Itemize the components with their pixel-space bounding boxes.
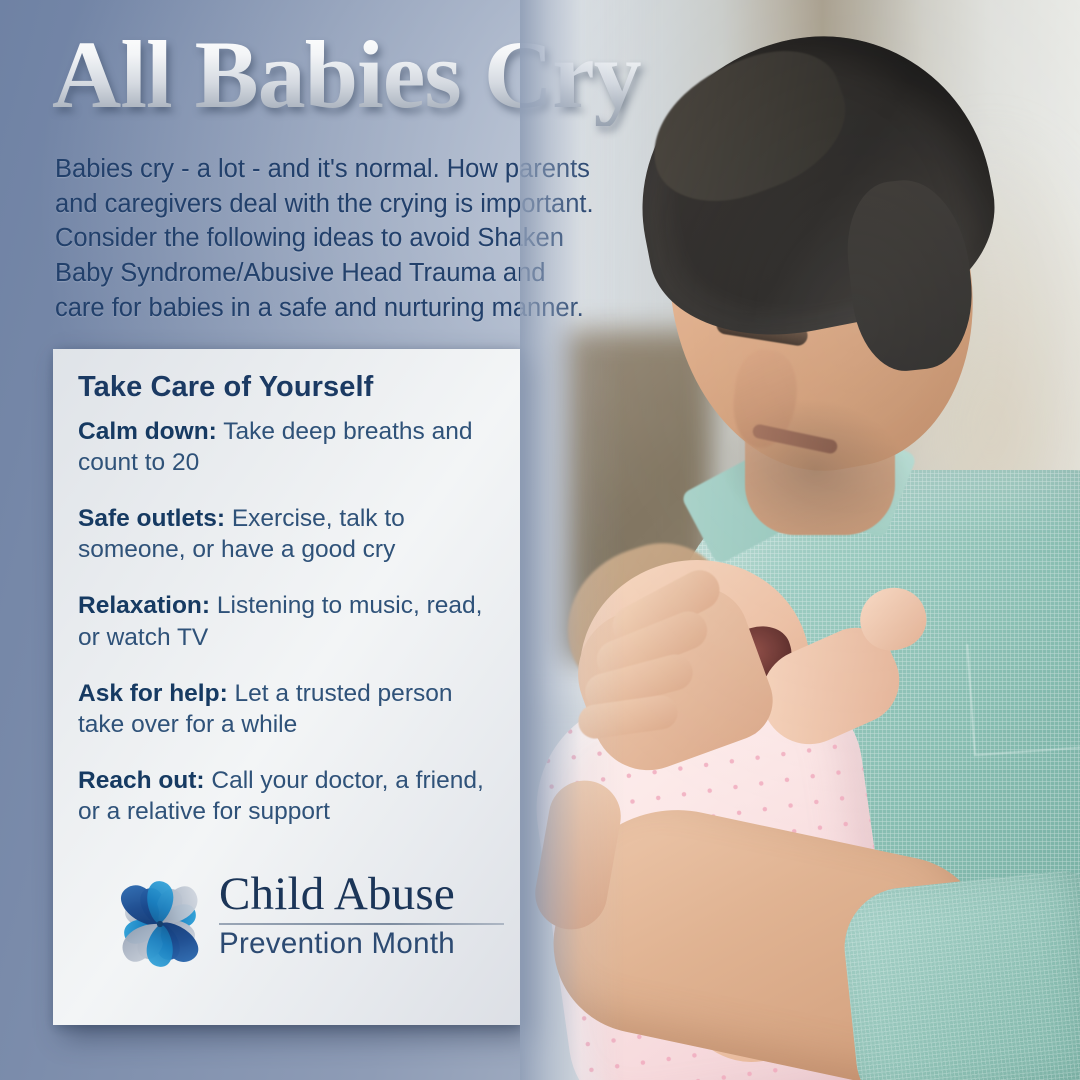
tip-item: Ask for help: Let a trusted person take … [78,678,498,740]
intro-line: care for babies in a safe and nurturing … [55,291,685,326]
intro-line: Consider the following ideas to avoid Sh… [55,221,685,256]
intro-paragraph: Babies cry - a lot - and it's normal. Ho… [55,152,685,325]
tip-label: Relaxation: [78,592,210,619]
tip-item: Relaxation: Listening to music, read, or… [78,590,498,652]
tip-label: Safe outlets: [78,505,225,532]
tip-label: Calm down: [78,418,217,445]
poster-canvas: All Babies Cry Babies cry - a lot - and … [0,0,1080,1080]
logo-subtitle: Prevention Month [219,929,504,959]
logo-title: Child Abuse [219,871,504,918]
tip-item: Safe outlets: Exercise, talk to someone,… [78,503,498,565]
tip-item: Calm down: Take deep breaths and count t… [78,416,498,478]
intro-line: Baby Syndrome/Abusive Head Trauma and [55,256,685,291]
tip-item: Reach out: Call your doctor, a friend, o… [78,765,498,827]
pinwheel-icon [101,857,219,991]
tips-card-content: Take Care of Yourself Calm down: Take de… [78,371,498,852]
child-abuse-prevention-month-logo: Child Abuse Prevention Month [101,855,501,995]
tip-label: Ask for help: [78,680,228,707]
intro-line: Babies cry - a lot - and it's normal. Ho… [55,152,685,187]
tips-card: Take Care of Yourself Calm down: Take de… [53,349,520,1025]
tip-label: Reach out: [78,767,205,794]
logo-wordmark: Child Abuse Prevention Month [219,871,504,958]
intro-line: and caregivers deal with the crying is i… [55,187,685,222]
page-title: All Babies Cry [52,24,752,126]
logo-divider [219,923,504,925]
tips-card-title: Take Care of Yourself [78,371,498,404]
